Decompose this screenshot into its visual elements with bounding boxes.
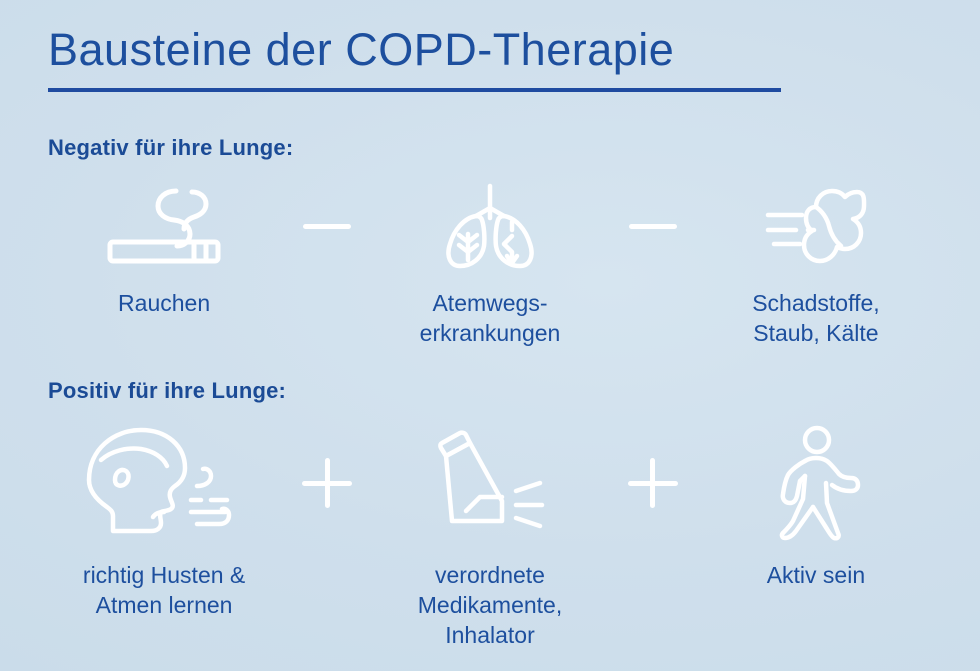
- item-caption: richtig Husten & Atmen lernen: [83, 560, 245, 620]
- item-caption: Atemwegs- erkrankungen: [420, 288, 561, 348]
- section-heading-negative: Negativ für ihre Lunge:: [48, 135, 293, 161]
- section-heading-positive: Positiv für ihre Lunge:: [48, 378, 286, 404]
- cigarette-icon: [106, 178, 222, 274]
- row-negative-factors: Rauchen: [0, 178, 980, 348]
- connector-minus-2: [608, 178, 698, 274]
- item-atemwegserkrankungen: Atemwegs- erkrankungen: [372, 178, 608, 348]
- walking-person-icon: [769, 420, 863, 546]
- minus-icon: [629, 224, 677, 229]
- row-positive-factors: richtig Husten & Atmen lernen: [0, 420, 980, 650]
- plus-icon: [628, 458, 678, 508]
- connector-plus-2: [608, 420, 698, 546]
- connector-minus-1: [282, 178, 372, 274]
- minus-icon: [303, 224, 351, 229]
- breathing-head-icon: [79, 420, 249, 546]
- item-aktiv-sein: Aktiv sein: [698, 420, 934, 590]
- item-caption: verordnete Medikamente, Inhalator: [372, 560, 608, 650]
- title-underline-divider: [48, 88, 781, 92]
- connector-plus-1: [282, 420, 372, 546]
- item-husten-atmen: richtig Husten & Atmen lernen: [46, 420, 282, 620]
- item-rauchen: Rauchen: [46, 178, 282, 318]
- lungs-icon: [442, 178, 538, 274]
- infographic-canvas: Bausteine der COPD-Therapie Negativ für …: [0, 0, 980, 671]
- item-caption: Aktiv sein: [767, 560, 865, 590]
- inhaler-icon: [420, 420, 560, 546]
- item-medikamente-inhalator: verordnete Medikamente, Inhalator: [372, 420, 608, 650]
- item-caption: Rauchen: [118, 288, 210, 318]
- page-title: Bausteine der COPD-Therapie: [48, 24, 674, 76]
- item-schadstoffe: Schadstoffe, Staub, Kälte: [698, 178, 934, 348]
- plus-icon: [302, 458, 352, 508]
- item-caption: Schadstoffe, Staub, Kälte: [752, 288, 879, 348]
- pollution-cloud-icon: [764, 178, 868, 274]
